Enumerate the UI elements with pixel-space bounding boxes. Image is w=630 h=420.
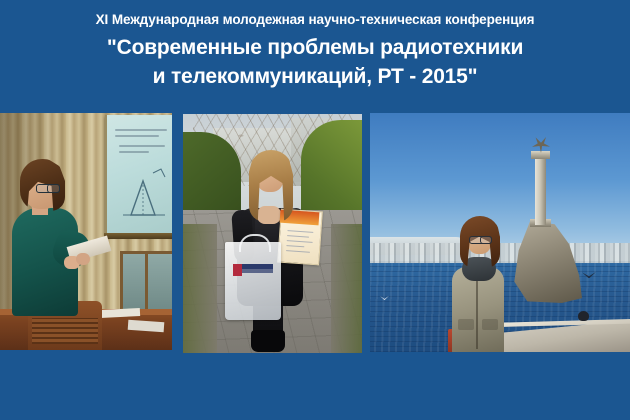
monument-column <box>535 157 546 225</box>
monument-capital <box>531 151 550 159</box>
projection-screen <box>105 115 172 235</box>
conference-poster: XI Международная молодежная научно-техни… <box>0 0 630 420</box>
jacket-pocket-right <box>482 319 498 330</box>
poster-title-block: XI Международная молодежная научно-техни… <box>0 0 630 108</box>
conference-title-line-2: и телекоммуникаций, РТ - 2015" <box>0 62 630 91</box>
chair-backrest-slats <box>32 318 98 344</box>
conference-title-line-1: "Современные проблемы радиотехники <box>0 33 630 62</box>
tote-bag-logo <box>233 264 273 276</box>
speaker-hand-2 <box>76 253 90 265</box>
conference-tote-bag <box>225 242 281 320</box>
screen-frame <box>104 233 172 239</box>
jacket-pocket-left <box>458 319 474 330</box>
pigeon-icon <box>578 311 589 321</box>
conference-subtitle-line: XI Международная молодежная научно-техни… <box>0 12 630 28</box>
speaker-glasses-right-lens <box>47 184 60 193</box>
window-mullion <box>145 251 148 313</box>
walkway-edge-left <box>183 224 217 353</box>
photo-award-diploma <box>183 114 362 353</box>
jacket-zipper <box>476 273 478 349</box>
walkway-edge-right <box>331 224 362 353</box>
photo-sevastopol-monument <box>370 113 630 352</box>
photo-speaker-presentation <box>0 113 172 350</box>
participant-boots <box>251 330 285 352</box>
participant-neckline <box>257 206 281 224</box>
slide-diagram-icon <box>113 167 171 219</box>
participant-glasses-right-lens <box>480 236 492 244</box>
